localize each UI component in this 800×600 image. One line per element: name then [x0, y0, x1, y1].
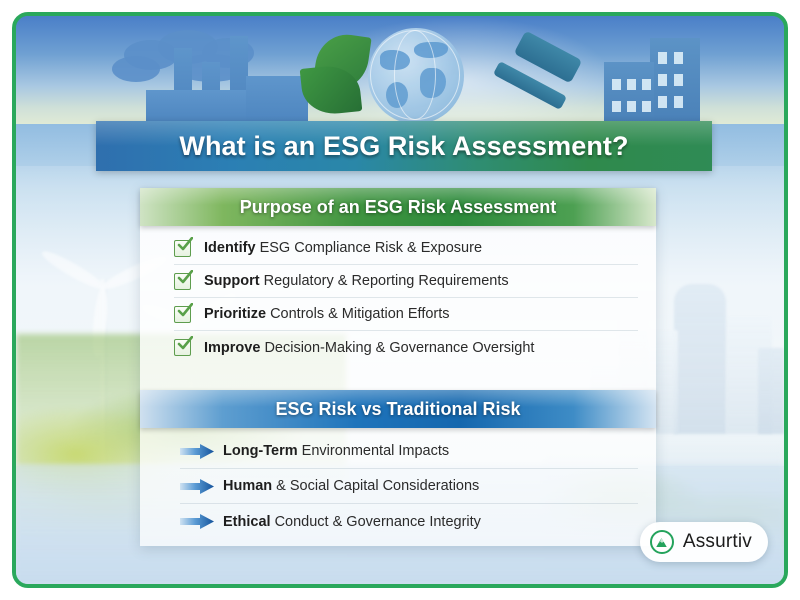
- list-item-text: Identify ESG Compliance Risk & Exposure: [204, 240, 482, 256]
- list-item-rest: Decision-Making & Governance Oversight: [260, 340, 534, 356]
- section-header-purpose: Purpose of an ESG Risk Assessment: [140, 188, 656, 226]
- list-item-text: Prioritize Controls & Mitigation Efforts: [204, 306, 450, 322]
- page-title: What is an ESG Risk Assessment?: [96, 121, 712, 171]
- arrow-right-icon: [180, 514, 214, 529]
- main-title-bar: What is an ESG Risk Assessment?: [96, 121, 712, 171]
- list-item-text: Long-Term Environmental Impacts: [223, 443, 449, 459]
- list-item-text: Support Regulatory & Reporting Requireme…: [204, 273, 509, 289]
- arrow-right-icon: [180, 444, 214, 459]
- check-icon: [174, 338, 193, 357]
- list-item[interactable]: Improve Decision-Making & Governance Ove…: [174, 331, 638, 364]
- list-item-lead: Human: [223, 478, 272, 494]
- list-item-text: Ethical Conduct & Governance Integrity: [223, 514, 481, 530]
- list-item-text: Improve Decision-Making & Governance Ove…: [204, 340, 534, 356]
- content-card: Purpose of an ESG Risk Assessment Identi…: [140, 188, 656, 546]
- list-item-rest: Environmental Impacts: [298, 443, 450, 459]
- comparison-list: Long-Term Environmental Impacts Human & …: [140, 428, 656, 547]
- mountain-triangle-icon: [650, 530, 674, 554]
- list-item-rest: & Social Capital Considerations: [272, 478, 479, 494]
- list-item-lead: Support: [204, 273, 260, 289]
- purpose-list: Identify ESG Compliance Risk & Exposure …: [140, 226, 656, 372]
- infographic-canvas: What is an ESG Risk Assessment? Purpose …: [12, 12, 788, 588]
- list-item-lead: Improve: [204, 340, 260, 356]
- check-icon: [174, 272, 193, 291]
- list-item-rest: Conduct & Governance Integrity: [271, 514, 481, 530]
- list-item[interactable]: Long-Term Environmental Impacts: [180, 434, 638, 469]
- header-illustration-band: [16, 16, 784, 124]
- list-item[interactable]: Ethical Conduct & Governance Integrity: [180, 504, 638, 539]
- list-item-rest: Controls & Mitigation Efforts: [266, 306, 449, 322]
- globe-icon: [368, 28, 464, 124]
- arrow-right-icon: [180, 479, 214, 494]
- list-item-lead: Ethical: [223, 514, 271, 530]
- brand-logo[interactable]: Assurtiv: [640, 522, 768, 562]
- office-building-icon: [594, 16, 724, 124]
- list-item-lead: Identify: [204, 240, 256, 256]
- list-item-rest: ESG Compliance Risk & Exposure: [256, 240, 482, 256]
- list-item[interactable]: Prioritize Controls & Mitigation Efforts: [174, 298, 638, 331]
- section-title: ESG Risk vs Traditional Risk: [275, 399, 520, 420]
- list-item-text: Human & Social Capital Considerations: [223, 478, 479, 494]
- list-item[interactable]: Human & Social Capital Considerations: [180, 469, 638, 504]
- gavel-icon: [486, 38, 596, 124]
- section-header-comparison: ESG Risk vs Traditional Risk: [140, 390, 656, 428]
- check-icon: [174, 239, 193, 258]
- list-item-lead: Prioritize: [204, 306, 266, 322]
- list-item[interactable]: Identify ESG Compliance Risk & Exposure: [174, 232, 638, 265]
- brand-name: Assurtiv: [683, 531, 752, 553]
- check-icon: [174, 305, 193, 324]
- section-title: Purpose of an ESG Risk Assessment: [240, 197, 556, 218]
- list-item[interactable]: Support Regulatory & Reporting Requireme…: [174, 265, 638, 298]
- list-item-rest: Regulatory & Reporting Requirements: [260, 273, 509, 289]
- list-item-lead: Long-Term: [223, 443, 298, 459]
